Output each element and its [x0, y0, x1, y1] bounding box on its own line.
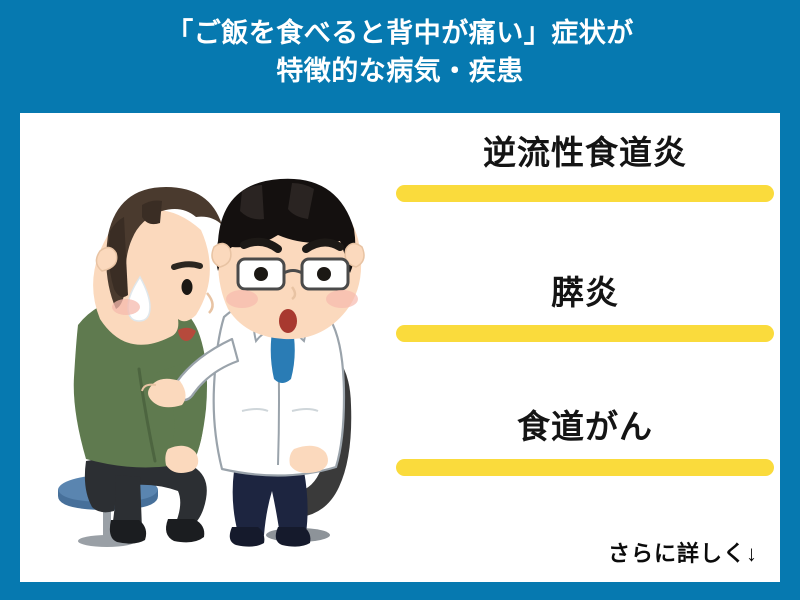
doctor-patient-illustration	[56, 175, 386, 575]
page-title-line-1: 「ご飯を食べると背中が痛い」症状が	[0, 14, 800, 52]
condition-list: 逆流性食道炎 膵炎 食道がん	[390, 113, 780, 533]
condition-label-3: 食道がん	[390, 405, 780, 449]
content-panel: 逆流性食道炎 膵炎 食道がん さらに詳しく↓	[20, 113, 780, 582]
slide-root: 「ご飯を食べると背中が痛い」症状が 特徴的な病気・疾患	[0, 0, 800, 600]
learn-more-label[interactable]: さらに詳しく↓	[608, 536, 758, 568]
list-item[interactable]: 逆流性食道炎	[390, 131, 780, 202]
list-item[interactable]: 食道がん	[390, 405, 780, 476]
condition-label-1: 逆流性食道炎	[390, 131, 780, 175]
condition-label-2: 膵炎	[390, 271, 780, 315]
doctor-head-shape	[212, 179, 364, 339]
highlight-bar-1	[396, 185, 774, 202]
highlight-bar-3	[396, 459, 774, 476]
list-item[interactable]: 膵炎	[390, 271, 780, 342]
patient-head-shape	[93, 187, 222, 345]
highlight-bar-2	[396, 325, 774, 342]
page-title: 「ご飯を食べると背中が痛い」症状が 特徴的な病気・疾患	[0, 14, 800, 90]
page-title-line-2: 特徴的な病気・疾患	[0, 52, 800, 90]
doctor-hand-shape	[290, 446, 329, 473]
